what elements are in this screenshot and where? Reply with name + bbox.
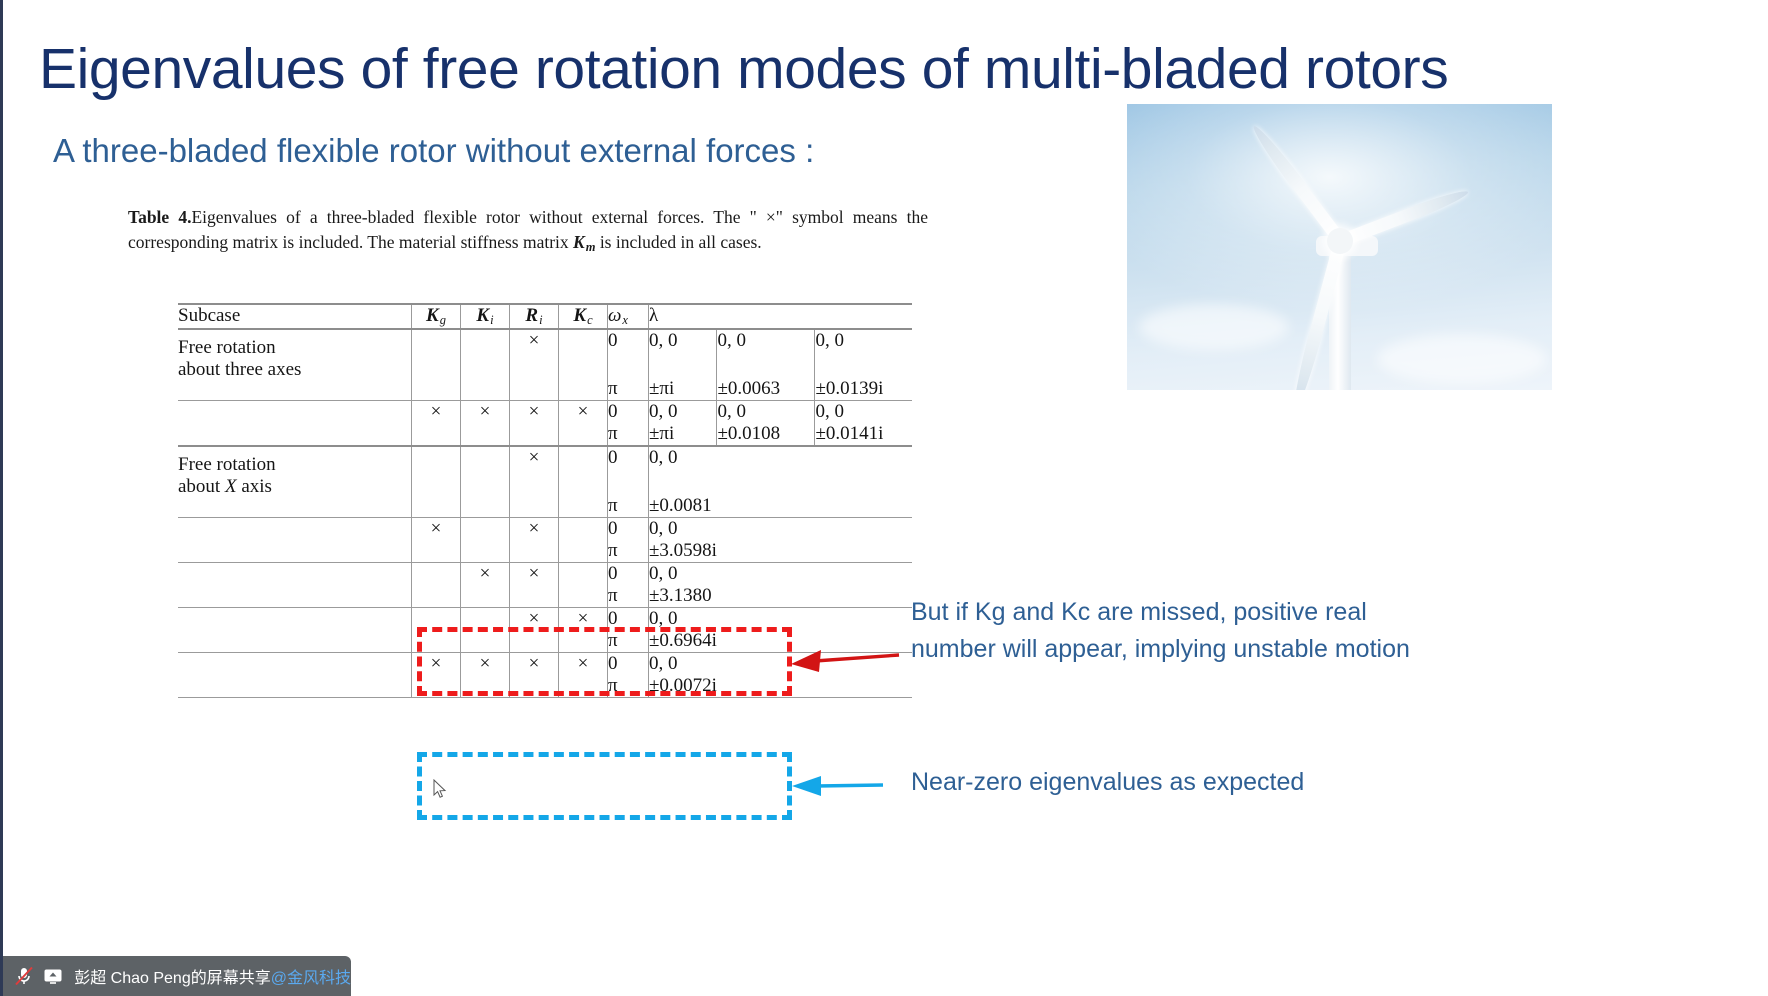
flag-ri: × xyxy=(510,401,559,447)
subcase-cell-empty xyxy=(178,563,412,608)
lambda-value-c xyxy=(815,630,913,653)
cloud-shape xyxy=(1377,334,1547,384)
col-header-lambda-2 xyxy=(717,304,815,329)
lambda-value-b: ±0.0063 xyxy=(717,352,815,401)
lambda-value-a: 0, 0 xyxy=(649,329,717,352)
lambda-value-a: ±0.6964i xyxy=(649,630,717,653)
omega-value: π xyxy=(608,469,649,518)
lambda-value-a: 0, 0 xyxy=(649,446,717,469)
table-caption-label: Table 4. xyxy=(128,207,191,227)
table-caption-block: Table 4.Eigenvalues of a three-bladed fl… xyxy=(128,205,888,260)
lambda-value-c xyxy=(815,540,913,563)
col-header-ri: Ri xyxy=(510,304,559,329)
table-row: × × 0 0, 0 xyxy=(178,518,912,541)
subcase-cell-empty xyxy=(178,518,412,563)
flag-ki: × xyxy=(461,401,510,447)
subcase-line-1: Free rotation xyxy=(178,454,411,476)
red-annotation-note: But if Kg and Kc are missed, positive re… xyxy=(911,594,1410,668)
lambda-value-c: ±0.0139i xyxy=(815,352,913,401)
flag-kc xyxy=(559,563,608,608)
flag-ri: × xyxy=(510,563,559,608)
omega-value: π xyxy=(608,352,649,401)
mic-muted-icon[interactable] xyxy=(11,963,37,989)
col-header-ki: Ki xyxy=(461,304,510,329)
lambda-value-a: 0, 0 xyxy=(649,563,717,586)
mouse-cursor xyxy=(433,779,447,799)
lambda-value-c xyxy=(815,563,913,586)
screen-share-icon[interactable] xyxy=(41,963,67,989)
lambda-value-c xyxy=(815,469,913,518)
omega-value: 0 xyxy=(608,446,649,469)
lambda-value-b xyxy=(717,518,815,541)
table-row: × × 0 0, 0 xyxy=(178,608,912,631)
flag-kc xyxy=(559,446,608,518)
flag-ki xyxy=(461,329,510,401)
omega-value: π xyxy=(608,540,649,563)
lambda-value-c xyxy=(815,675,913,698)
lambda-value-c: ±0.0141i xyxy=(815,423,913,446)
lambda-value-b xyxy=(717,585,815,608)
omega-value: π xyxy=(608,423,649,446)
flag-ri: × xyxy=(510,446,559,518)
eigenvalue-table: Subcase Kg Ki Ri Kc ωx λ Free rotation a… xyxy=(178,303,912,702)
flag-kc: × xyxy=(559,653,608,698)
red-note-line-1: But if Kg and Kc are missed, positive re… xyxy=(911,594,1410,631)
lambda-value-b xyxy=(717,446,815,469)
lambda-value-a: ±0.0081 xyxy=(649,469,717,518)
flag-kg xyxy=(412,446,461,518)
flag-ri: × xyxy=(510,518,559,563)
lambda-value-c: 0, 0 xyxy=(815,401,913,424)
share-owner-name: 彭超 Chao Peng的屏幕共享 xyxy=(74,970,271,987)
lambda-value-c xyxy=(815,518,913,541)
lambda-value-b: 0, 0 xyxy=(717,329,815,352)
turbine-hub xyxy=(1327,228,1353,254)
subcase-cell-empty xyxy=(178,608,412,653)
wind-turbine-photo xyxy=(1127,104,1552,390)
lambda-value-c xyxy=(815,653,913,676)
omega-value: 0 xyxy=(608,401,649,424)
table-row-highlight-cyan: × × × × 0 0, 0 xyxy=(178,653,912,676)
table-caption-text-3: is included in all cases. xyxy=(595,232,761,252)
cyan-arrow xyxy=(792,776,883,796)
table-caption: Table 4.Eigenvalues of a three-bladed fl… xyxy=(128,205,928,260)
cloud-shape xyxy=(1139,304,1289,350)
subcase-cell-empty xyxy=(178,653,412,698)
col-header-subcase: Subcase xyxy=(178,304,412,329)
subcase-line-1: Free rotation xyxy=(178,337,411,359)
matrix-km: K xyxy=(573,232,585,252)
lambda-value-b xyxy=(717,563,815,586)
flag-kg xyxy=(412,563,461,608)
lambda-value-b xyxy=(717,540,815,563)
col-header-lambda: λ xyxy=(649,304,717,329)
flag-ki xyxy=(461,608,510,653)
omega-value: 0 xyxy=(608,329,649,352)
flag-kc xyxy=(559,329,608,401)
red-note-line-2: number will appear, implying unstable mo… xyxy=(911,631,1410,668)
flag-ri: × xyxy=(510,653,559,698)
flag-kg xyxy=(412,608,461,653)
col-header-omega-x: ωx xyxy=(608,304,649,329)
matrix-km-subscript: m xyxy=(585,240,596,254)
flag-ki: × xyxy=(461,653,510,698)
lambda-value-b xyxy=(717,608,815,631)
cyan-highlight-box xyxy=(417,752,792,820)
flag-kg: × xyxy=(412,653,461,698)
lambda-value-a: 0, 0 xyxy=(649,518,717,541)
lambda-value-b xyxy=(717,675,815,698)
flag-ki xyxy=(461,518,510,563)
screen-share-taskbar[interactable]: 彭超 Chao Peng的屏幕共享@金风科技 xyxy=(3,956,351,996)
table-caption-text-1: Eigenvalues of a three-bladed flexible r… xyxy=(191,207,765,227)
table-row: Free rotation about X axis × 0 0, 0 xyxy=(178,446,912,469)
lambda-value-a: 0, 0 xyxy=(649,653,717,676)
share-owner-tag: @金风科技 xyxy=(271,970,351,987)
page-title: Eigenvalues of free rotation modes of mu… xyxy=(39,36,1448,102)
lambda-value-b: ±0.0108 xyxy=(717,423,815,446)
subcase-cell-x-axis: Free rotation about X axis xyxy=(178,446,412,518)
cyan-annotation-note: Near-zero eigenvalues as expected xyxy=(911,764,1304,801)
omega-value: π xyxy=(608,585,649,608)
flag-kc: × xyxy=(559,608,608,653)
lambda-value-b: 0, 0 xyxy=(717,401,815,424)
omega-value: π xyxy=(608,630,649,653)
slide-canvas: Eigenvalues of free rotation modes of mu… xyxy=(0,0,1768,996)
table-bottom-rule xyxy=(178,698,912,703)
omega-value: 0 xyxy=(608,563,649,586)
col-header-kg: Kg xyxy=(412,304,461,329)
lambda-value-b xyxy=(717,469,815,518)
lambda-value-a: ±πi xyxy=(649,423,717,446)
table-row: × × × × 0 0, 0 0, 0 0, 0 xyxy=(178,401,912,424)
omega-value: 0 xyxy=(608,608,649,631)
flag-kg: × xyxy=(412,518,461,563)
times-symbol: × xyxy=(766,207,776,227)
table-body: Free rotation about three axes × 0 0, 0 … xyxy=(178,329,912,702)
table-row-highlight-red: × × 0 0, 0 xyxy=(178,563,912,586)
lambda-value-a: 0, 0 xyxy=(649,401,717,424)
table-header-row: Subcase Kg Ki Ri Kc ωx λ xyxy=(178,304,912,329)
flag-ki xyxy=(461,446,510,518)
lambda-value-a: ±0.0072i xyxy=(649,675,717,698)
subcase-line-2: about three axes xyxy=(178,359,411,381)
subcase-line-2: about X axis xyxy=(178,476,411,498)
flag-kg xyxy=(412,329,461,401)
subcase-cell-empty xyxy=(178,401,412,447)
lambda-value-c xyxy=(815,608,913,631)
lambda-value-b xyxy=(717,630,815,653)
omega-value: π xyxy=(608,675,649,698)
flag-ri: × xyxy=(510,608,559,653)
omega-value: 0 xyxy=(608,653,649,676)
lambda-value-c: 0, 0 xyxy=(815,329,913,352)
col-header-lambda-3 xyxy=(815,304,913,329)
lambda-value-c xyxy=(815,585,913,608)
table-row: Free rotation about three axes × 0 0, 0 … xyxy=(178,329,912,352)
lambda-value-a: 0, 0 xyxy=(649,608,717,631)
flag-ki: × xyxy=(461,563,510,608)
flag-ri: × xyxy=(510,329,559,401)
lambda-value-a: ±3.0598i xyxy=(649,540,717,563)
lambda-value-a: ±πi xyxy=(649,352,717,401)
omega-value: 0 xyxy=(608,518,649,541)
lambda-value-b xyxy=(717,653,815,676)
flag-kc xyxy=(559,518,608,563)
flag-kg: × xyxy=(412,401,461,447)
flag-kc: × xyxy=(559,401,608,447)
slide-subtitle: A three-bladed flexible rotor without ex… xyxy=(53,130,814,172)
lambda-value-c xyxy=(815,446,913,469)
lambda-value-a: ±3.1380 xyxy=(649,585,717,608)
screen-share-label: 彭超 Chao Peng的屏幕共享@金风科技 xyxy=(74,964,351,988)
col-header-kc: Kc xyxy=(559,304,608,329)
subcase-cell-three-axes: Free rotation about three axes xyxy=(178,329,412,401)
